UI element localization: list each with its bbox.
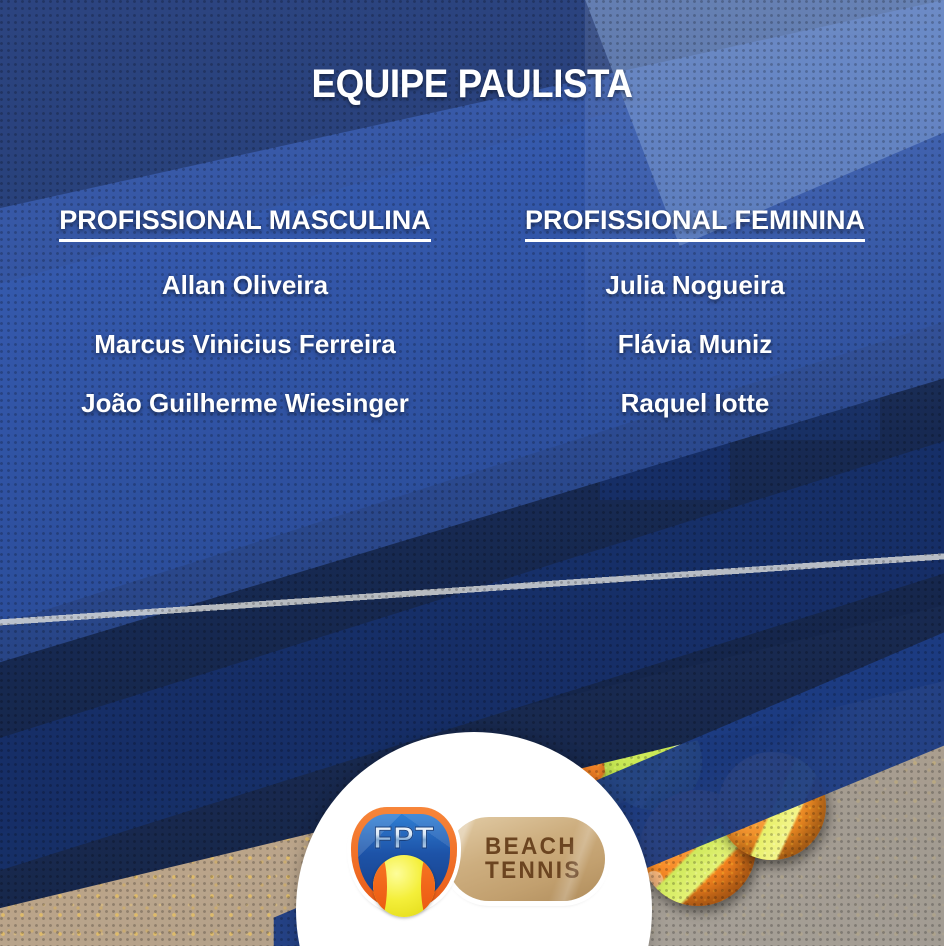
player-name: Marcus Vinicius Ferreira [25,329,465,360]
fpt-monogram: FPT [345,820,463,856]
page-title: EQUIPE PAULISTA [38,62,906,107]
column-masculina: PROFISSIONAL MASCULINA Allan Oliveira Ma… [25,205,465,419]
player-name: Flávia Muniz [495,329,895,360]
logo-line-beach: BEACH [485,835,598,859]
logo-line-tennis: TENNIS [485,859,598,883]
column-heading-feminina: PROFISSIONAL FEMININA [525,205,865,242]
player-name: João Guilherme Wiesinger [25,388,465,419]
player-name: Allan Oliveira [25,270,465,301]
logo-wordmark-panel: BEACH TENNIS [447,817,605,901]
tennis-ball-icon [373,855,435,917]
poster-canvas: EQUIPE PAULISTA PROFISSIONAL MASCULINA A… [0,0,944,946]
column-heading-masculina: PROFISSIONAL MASCULINA [59,205,431,242]
fpt-beach-tennis-logo: FPT BEACH TENNIS [345,800,605,918]
column-feminina: PROFISSIONAL FEMININA Julia Nogueira Flá… [495,205,895,419]
fpt-shield-icon: FPT [345,803,463,915]
player-name: Raquel Iotte [495,388,895,419]
player-name: Julia Nogueira [495,270,895,301]
